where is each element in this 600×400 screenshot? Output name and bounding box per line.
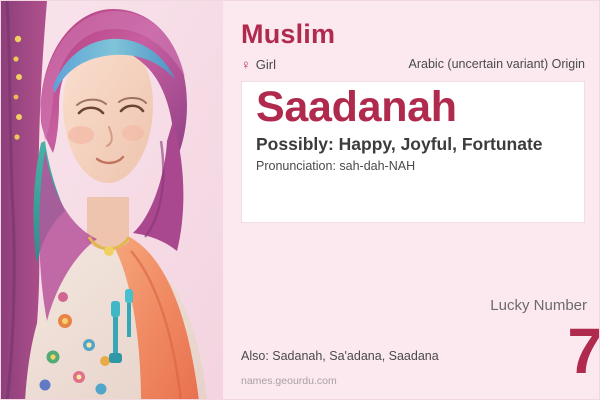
lucky-number-label: Lucky Number: [490, 297, 587, 314]
name-card: Muslim ♀Girl Arabic (uncertain variant) …: [0, 0, 600, 400]
name-details: Muslim ♀Girl Arabic (uncertain variant) …: [223, 1, 599, 399]
alternate-spellings: Also: Sadanah, Sa'adana, Saadana: [241, 349, 439, 363]
girl-illustration: [1, 1, 223, 400]
meta-row: ♀Girl Arabic (uncertain variant) Origin: [241, 57, 585, 75]
gender-text: Girl: [256, 57, 276, 72]
origin-label: Arabic (uncertain variant) Origin: [409, 57, 585, 71]
female-icon: ♀: [241, 57, 251, 72]
site-credit: names.geourdu.com: [241, 375, 337, 387]
gender-label: ♀Girl: [241, 57, 276, 72]
religion-title: Muslim: [241, 19, 335, 50]
pronunciation-text: Pronunciation: sah-dah-NAH: [256, 159, 415, 173]
lucky-number-value: 7: [567, 319, 600, 383]
meaning-text: Possibly: Happy, Joyful, Fortunate: [256, 134, 543, 155]
name-panel: Saadanah Possibly: Happy, Joyful, Fortun…: [241, 81, 585, 223]
name-heading: Saadanah: [256, 83, 457, 132]
